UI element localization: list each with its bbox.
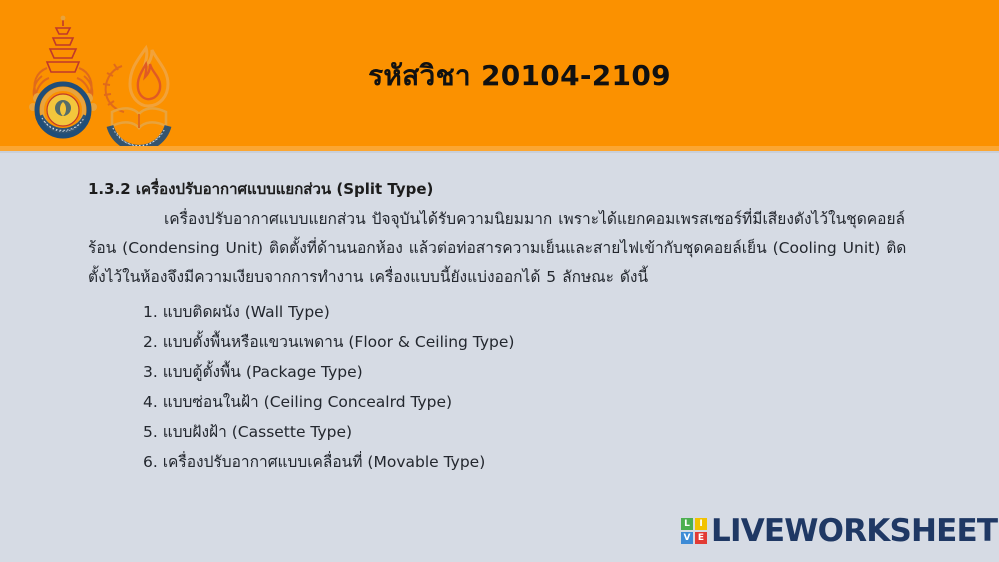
liveworksheets-watermark: L I V E LIVEWORKSHEETS bbox=[681, 513, 999, 549]
live-tiles: L I V E bbox=[681, 518, 707, 544]
list-item: 5. แบบฝังฝ้า (Cassette Type) bbox=[143, 417, 843, 447]
list-item: 2. แบบตั้งพื้นหรือแขวนเพดาน (Floor & Cei… bbox=[143, 327, 843, 357]
slide-root: รหัสวิชา 20104-2109 1.3.2 เครื่องปรับอาก… bbox=[0, 0, 999, 562]
live-tile-i: I bbox=[695, 518, 707, 530]
section-heading: 1.3.2 เครื่องปรับอากาศแบบแยกส่วน (Split … bbox=[88, 177, 433, 201]
live-tile-v: V bbox=[681, 532, 693, 544]
content-area: 1.3.2 เครื่องปรับอากาศแบบแยกส่วน (Split … bbox=[0, 153, 999, 562]
header-banner: รหัสวิชา 20104-2109 bbox=[0, 0, 999, 146]
list-item: 6. เครื่องปรับอากาศแบบเคลื่อนที่ (Movabl… bbox=[143, 447, 843, 477]
list-item: 4. แบบซ่อนในฝ้า (Ceiling Concealrd Type) bbox=[143, 387, 843, 417]
list-item: 1. แบบติดผนัง (Wall Type) bbox=[143, 297, 843, 327]
section-paragraph: เครื่องปรับอากาศแบบแยกส่วน ปัจจุบันได้รั… bbox=[88, 205, 912, 292]
page-title: รหัสวิชา 20104-2109 bbox=[0, 54, 999, 98]
list-item: 3. แบบตู้ตั้งพื้น (Package Type) bbox=[143, 357, 843, 387]
live-tile-e: E bbox=[695, 532, 707, 544]
split-type-list: 1. แบบติดผนัง (Wall Type) 2. แบบตั้งพื้น… bbox=[143, 297, 843, 477]
live-tile-l: L bbox=[681, 518, 693, 530]
liveworksheets-wordmark: LIVEWORKSHEETS bbox=[711, 513, 999, 549]
